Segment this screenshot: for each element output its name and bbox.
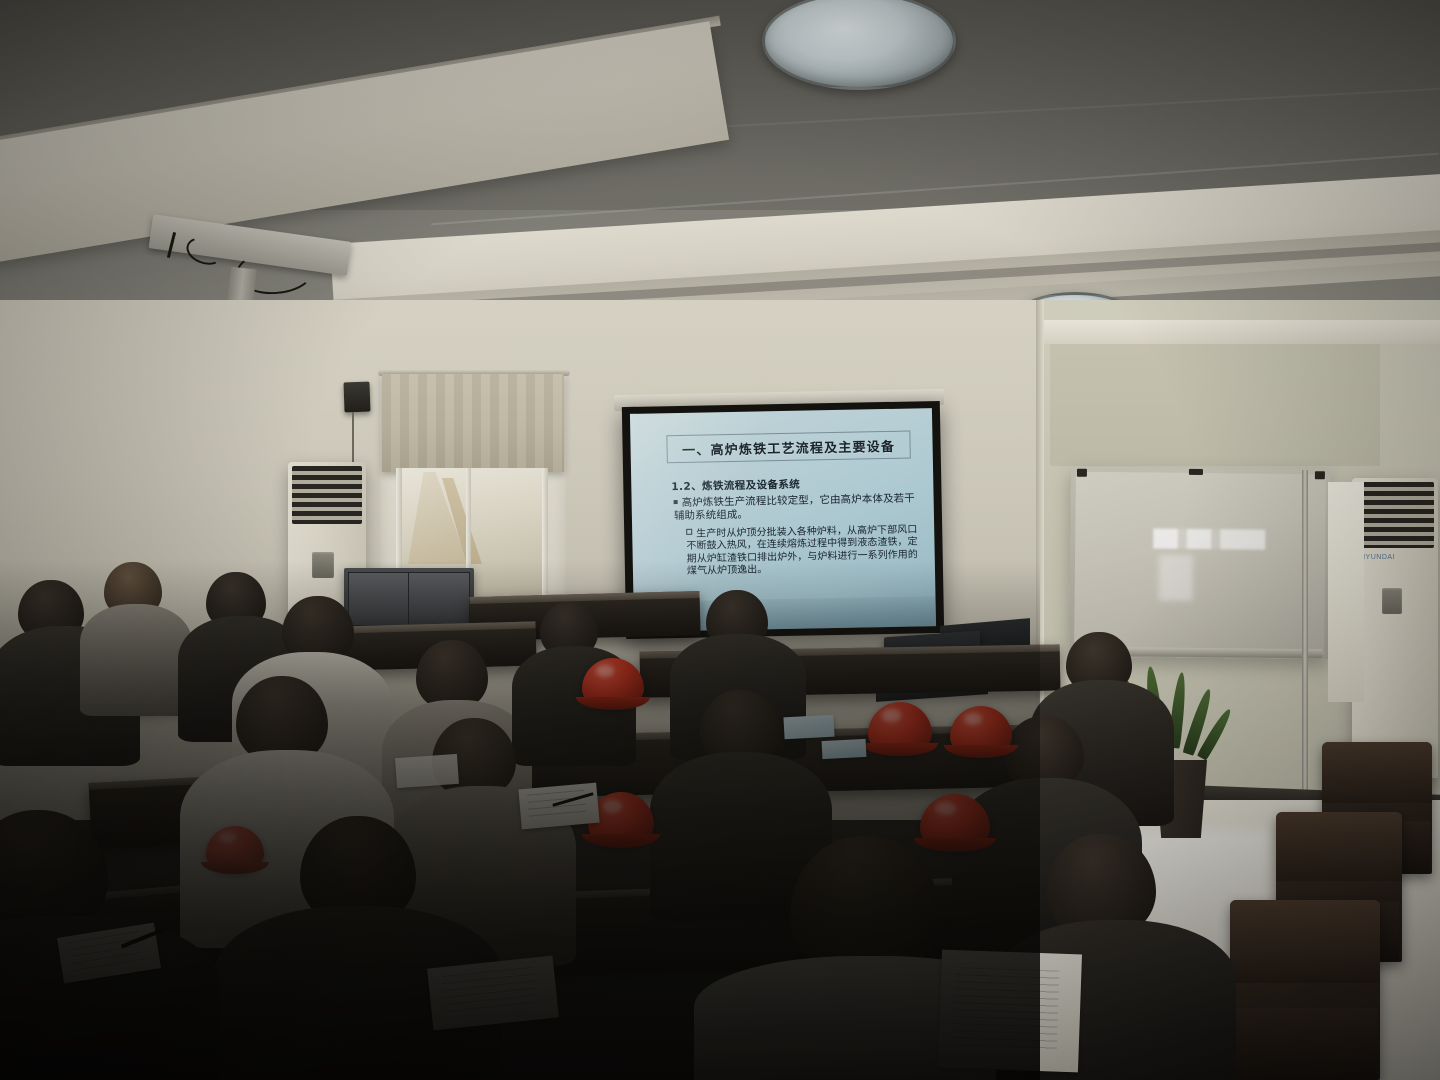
helmet-highlight [219,832,236,843]
slide-subtitle: 1.2、炼铁流程及设备系统 [671,477,800,494]
slide-bullet-1-text: 高炉炼铁生产流程比较定型，它由高炉本体及若干辅助系统组成。 [674,492,915,522]
classroom-photo: HYUNDAI 一、高炉炼铁工艺流程及主要设备 1.2、炼铁流程及设备系统 高炉… [0,0,1440,1080]
air-conditioner-right[interactable]: HYUNDAI [1352,478,1438,778]
chair-back [1276,812,1402,881]
notebook[interactable] [938,950,1082,1073]
chair[interactable] [1230,900,1380,1080]
handwriting [68,931,145,973]
bullet-hollow-square-icon [686,529,692,535]
paper-sheet[interactable] [783,715,834,740]
handwriting [953,967,1059,1051]
helmet-highlight [596,665,615,677]
slide-bullet-1: 高炉炼铁生产流程比较定型，它由高炉本体及若干辅助系统组成。 [674,492,916,523]
window-mullion [542,468,548,600]
cornice [1040,320,1440,344]
ac-grille-icon [292,466,362,524]
whiteboard-corner-clip [1315,471,1325,479]
equipment-cabinet[interactable] [344,568,474,630]
chair-back [1230,900,1380,983]
attendee-body [80,604,192,716]
helmet-highlight [882,709,901,721]
ac-display-panel[interactable] [1382,588,1402,614]
notebook[interactable] [395,754,459,788]
slide-bullet-2-text: 生产时从炉顶分批装入各种炉料，从高炉下部风口不断鼓入热风，在连续熔炼过程中得到液… [686,524,918,577]
roller-blind[interactable] [382,374,564,472]
bullet-square-icon [674,500,678,504]
slide-title: 一、高炉炼铁工艺流程及主要设备 [682,435,895,458]
right-wall-upper-panel [1050,338,1380,466]
right-window-strip [1328,482,1364,702]
paper-sheet[interactable] [822,739,867,759]
chair-back [1322,742,1432,803]
helmet-highlight [603,800,623,813]
notebook[interactable] [427,956,559,1031]
ac-grille-icon [1356,482,1433,548]
slide-bullet-2: 生产时从炉顶分批装入各种炉料，从高炉下部风口不断鼓入热风，在连续熔炼过程中得到液… [686,524,921,578]
notebook[interactable] [518,783,599,830]
ac-brand-logo: HYUNDAI [1360,554,1395,561]
cabinet-door[interactable] [348,572,410,626]
whiteboard[interactable] [1069,467,1331,660]
whiteboard-window-reflection [1159,555,1193,601]
whiteboard-surface[interactable] [1074,472,1326,655]
chair-seat [1233,1008,1377,1080]
whiteboard-corner-clip [1077,469,1087,477]
cabinet-door[interactable] [408,572,470,626]
ac-display-panel[interactable] [312,552,334,578]
whiteboard-top-clip [1189,469,1203,475]
wall-speaker [343,382,370,413]
whiteboard-window-reflection [1153,529,1265,550]
slide-title-box: 一、高炉炼铁工艺流程及主要设备 [666,431,910,464]
handwriting [441,966,538,1018]
helmet-highlight [964,713,983,725]
helmet-highlight [935,802,956,815]
